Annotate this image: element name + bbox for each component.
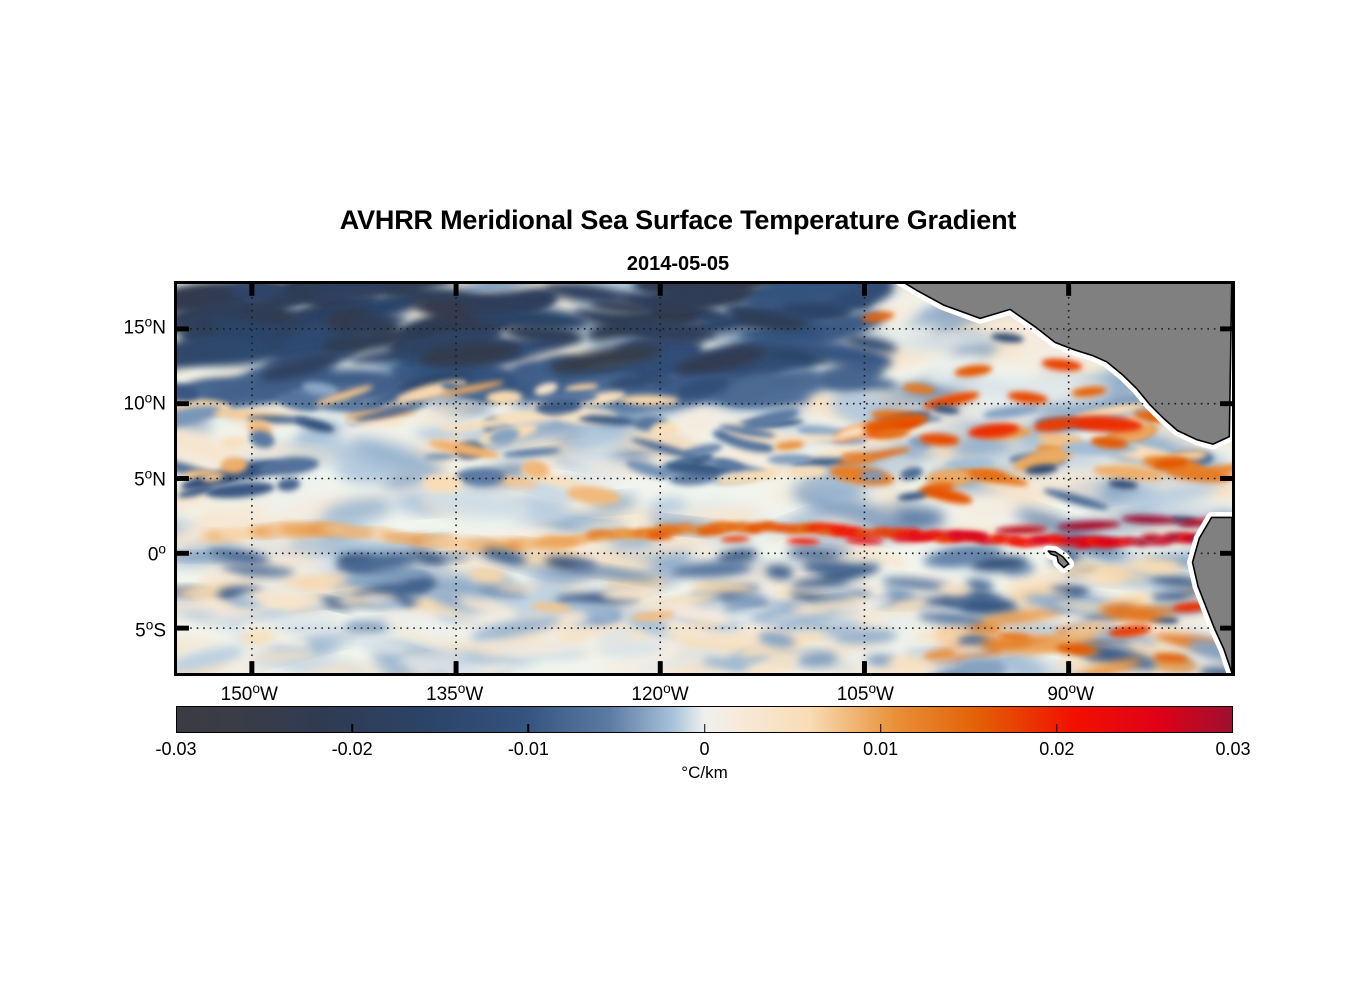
x-tick-label: 120oW: [631, 681, 688, 706]
colorbar-unit-label: °C/km: [176, 763, 1233, 783]
map-plot-area: [174, 281, 1235, 676]
colorbar-tick-label: -0.01: [508, 739, 549, 760]
y-axis-tick-labels: 15oN10oN5oN0o5oS: [96, 281, 166, 676]
colorbar-tick-label: 0.02: [1039, 739, 1074, 760]
colorbar-tick-label: 0.03: [1215, 739, 1250, 760]
x-tick-label: 135oW: [426, 681, 483, 706]
figure-canvas: AVHRR Meridional Sea Surface Temperature…: [0, 0, 1356, 1000]
colorbar-tick-labels: -0.03-0.02-0.0100.010.020.03: [176, 739, 1233, 765]
page-title: AVHRR Meridional Sea Surface Temperature…: [0, 205, 1356, 236]
colorbar-gradient: [177, 707, 1232, 732]
y-tick-label: 15oN: [124, 314, 166, 339]
colorbar-tick-label: -0.03: [155, 739, 196, 760]
colorbar-tick-label: 0.01: [863, 739, 898, 760]
colorbar-tick-label: 0: [699, 739, 709, 760]
y-tick-label: 5oN: [134, 466, 166, 491]
y-tick-label: 0o: [148, 542, 166, 567]
sst-gradient-heatmap: [177, 284, 1232, 673]
colorbar-tick-label: -0.02: [332, 739, 373, 760]
colorbar: [176, 706, 1233, 733]
field-feature: [455, 468, 505, 485]
chart-subtitle: 2014-05-05: [0, 253, 1356, 276]
y-tick-label: 10oN: [124, 390, 166, 415]
y-tick-label: 5oS: [135, 618, 166, 643]
field-feature: [767, 454, 812, 465]
x-tick-label: 150oW: [221, 681, 278, 706]
x-tick-label: 90oW: [1047, 681, 1094, 706]
x-tick-label: 105oW: [837, 681, 894, 706]
